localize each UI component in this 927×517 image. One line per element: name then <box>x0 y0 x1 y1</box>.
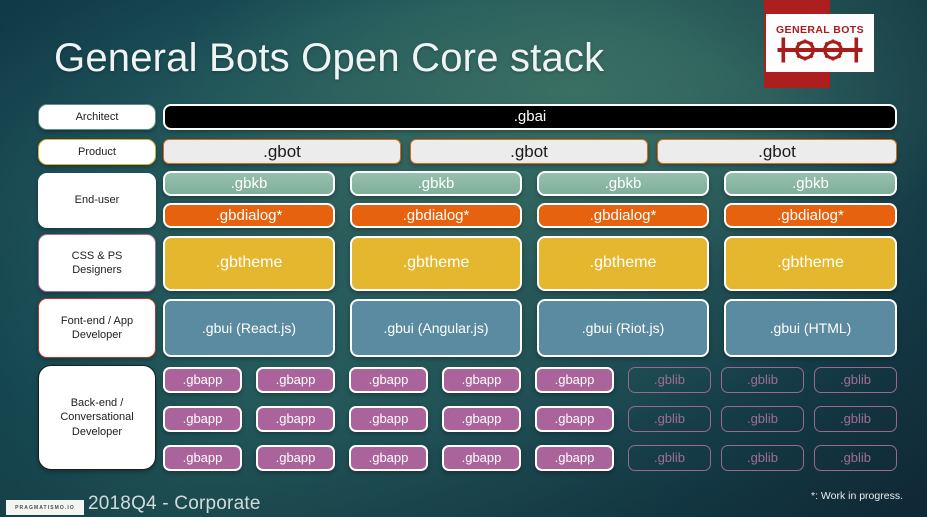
stack-cell-gbapp[interactable]: .gbapp <box>349 406 428 432</box>
stack-cell-gblib[interactable]: .gblib <box>628 367 711 393</box>
stack-cell-gbapp[interactable]: .gbapp <box>535 367 614 393</box>
cell-label: .gbot <box>510 142 548 162</box>
cell-label: .gbui (HTML) <box>770 320 852 336</box>
stack-cell-gbdialog[interactable]: .gbdialog* <box>724 203 897 228</box>
cell-label: .gbai <box>514 108 547 125</box>
stack-cell-gbapp[interactable]: .gbapp <box>535 445 614 471</box>
stack-cell-gbapp[interactable]: .gbapp <box>256 445 335 471</box>
stack-cell-gbui-angular[interactable]: .gbui (Angular.js) <box>350 299 522 357</box>
stack-cell-gbui-react[interactable]: .gbui (React.js) <box>163 299 335 357</box>
gears-logo-icon <box>774 37 866 63</box>
stack-cell-gbui-html[interactable]: .gbui (HTML) <box>724 299 897 357</box>
stack-cell-gbapp[interactable]: .gbapp <box>442 445 521 471</box>
page-title: General Bots Open Core stack <box>54 36 604 81</box>
cell-label: .gbapp <box>555 451 595 466</box>
stack-cell-gblib[interactable]: .gblib <box>628 406 711 432</box>
cell-label: .gblib <box>654 373 685 388</box>
cell-label: .gbapp <box>369 412 409 427</box>
cell-label: .gbapp <box>369 451 409 466</box>
stack-cell-gbapp[interactable]: .gbapp <box>163 406 242 432</box>
general-bots-logo: GENERAL BOTS <box>766 14 874 72</box>
cell-label: .gbot <box>263 142 301 162</box>
cell-label: .gbui (Angular.js) <box>383 320 488 336</box>
cell-label: .gbtheme <box>590 254 657 272</box>
cell-label: .gbkb <box>231 175 268 192</box>
cell-label: .gblib <box>840 412 871 427</box>
stack-cell-gbapp[interactable]: .gbapp <box>163 367 242 393</box>
stack-cell-gbapp[interactable]: .gbapp <box>349 367 428 393</box>
cell-label: .gbdialog* <box>590 207 657 224</box>
stack-cell-gbtheme[interactable]: .gbtheme <box>350 236 522 291</box>
cell-label: .gbui (React.js) <box>202 320 296 336</box>
cell-label: .gbapp <box>276 373 316 388</box>
cell-label: .gblib <box>747 412 778 427</box>
stack-cell-gblib[interactable]: .gblib <box>814 445 897 471</box>
stack-cell-gbapp[interactable]: .gbapp <box>349 445 428 471</box>
cell-label: .gbapp <box>462 451 502 466</box>
cell-label: .gbot <box>758 142 796 162</box>
stack-cell-gbdialog[interactable]: .gbdialog* <box>163 203 335 228</box>
stack-cell-gblib[interactable]: .gblib <box>721 406 804 432</box>
role-label-text: Font-end / AppDeveloper <box>61 314 133 342</box>
cell-label: .gbapp <box>276 451 316 466</box>
pragmatismo-logo-text: PRAGMATISMO.IO <box>15 505 75 511</box>
role-label-text: Architect <box>76 110 119 124</box>
stack-cell-gbui-riot[interactable]: .gbui (Riot.js) <box>537 299 709 357</box>
pragmatismo-logo: PRAGMATISMO.IO <box>6 500 84 515</box>
cell-label: .gbkb <box>605 175 642 192</box>
cell-label: .gbapp <box>276 412 316 427</box>
cell-label: .gbkb <box>792 175 829 192</box>
cell-label: .gbapp <box>555 373 595 388</box>
cell-label: .gbapp <box>369 373 409 388</box>
cell-label: .gbapp <box>555 412 595 427</box>
stack-cell-gbkb[interactable]: .gbkb <box>350 171 522 196</box>
stack-cell-gblib[interactable]: .gblib <box>814 367 897 393</box>
stack-cell-gbdialog[interactable]: .gbdialog* <box>537 203 709 228</box>
role-label-front-end-developer: Font-end / AppDeveloper <box>38 298 156 358</box>
stack-cell-gbtheme[interactable]: .gbtheme <box>163 236 335 291</box>
stack-cell-gbapp[interactable]: .gbapp <box>256 406 335 432</box>
cell-label: .gbtheme <box>777 254 844 272</box>
role-label-back-end-developer: Back-end /ConversationalDeveloper <box>38 365 156 470</box>
role-label-text: End-user <box>75 193 120 207</box>
stack-cell-gbapp[interactable]: .gbapp <box>442 367 521 393</box>
role-label-end-user: End-user <box>38 173 156 228</box>
role-label-architect: Architect <box>38 104 156 130</box>
stack-cell-gblib[interactable]: .gblib <box>814 406 897 432</box>
stack-cell-gbdialog[interactable]: .gbdialog* <box>350 203 522 228</box>
stack-cell-gblib[interactable]: .gblib <box>721 367 804 393</box>
stack-cell-gbkb[interactable]: .gbkb <box>724 171 897 196</box>
cell-label: .gbapp <box>183 412 223 427</box>
cell-label: .gbtheme <box>403 254 470 272</box>
cell-label: .gbapp <box>183 451 223 466</box>
stack-cell-gbai[interactable]: .gbai <box>163 104 897 130</box>
role-label-text: Product <box>78 145 116 159</box>
footer-work-in-progress-note: *: Work in progress. <box>811 490 903 502</box>
slide-root: GENERAL BOTS <box>0 0 927 517</box>
role-label-product: Product <box>38 139 156 165</box>
cell-label: .gblib <box>840 373 871 388</box>
cell-label: .gbtheme <box>216 254 283 272</box>
cell-label: .gbdialog* <box>777 207 844 224</box>
stack-cell-gbot[interactable]: .gbot <box>163 139 401 164</box>
stack-cell-gbot[interactable]: .gbot <box>657 139 897 164</box>
stack-cell-gblib[interactable]: .gblib <box>628 445 711 471</box>
cell-label: .gblib <box>840 451 871 466</box>
cell-label: .gblib <box>747 373 778 388</box>
footer-date-label: 2018Q4 - Corporate <box>88 493 261 515</box>
role-label-text: Back-end /ConversationalDeveloper <box>60 396 133 438</box>
logo-text: GENERAL BOTS <box>776 24 864 36</box>
stack-cell-gbkb[interactable]: .gbkb <box>163 171 335 196</box>
stack-cell-gbtheme[interactable]: .gbtheme <box>537 236 709 291</box>
cell-label: .gbui (Riot.js) <box>582 320 664 336</box>
stack-cell-gbkb[interactable]: .gbkb <box>537 171 709 196</box>
stack-cell-gbapp[interactable]: .gbapp <box>442 406 521 432</box>
role-label-css-ps-designers: CSS & PSDesigners <box>38 234 156 292</box>
cell-label: .gbapp <box>462 412 502 427</box>
cell-label: .gblib <box>654 451 685 466</box>
cell-label: .gbkb <box>418 175 455 192</box>
stack-cell-gbtheme[interactable]: .gbtheme <box>724 236 897 291</box>
cell-label: .gbapp <box>462 373 502 388</box>
cell-label: .gbdialog* <box>216 207 283 224</box>
stack-cell-gbapp[interactable]: .gbapp <box>256 367 335 393</box>
stack-cell-gbapp[interactable]: .gbapp <box>163 445 242 471</box>
cell-label: .gbapp <box>183 373 223 388</box>
stack-cell-gblib[interactable]: .gblib <box>721 445 804 471</box>
cell-label: .gbdialog* <box>403 207 470 224</box>
cell-label: .gblib <box>747 451 778 466</box>
cell-label: .gblib <box>654 412 685 427</box>
stack-cell-gbot[interactable]: .gbot <box>410 139 648 164</box>
role-label-text: CSS & PSDesigners <box>72 249 123 277</box>
stack-cell-gbapp[interactable]: .gbapp <box>535 406 614 432</box>
